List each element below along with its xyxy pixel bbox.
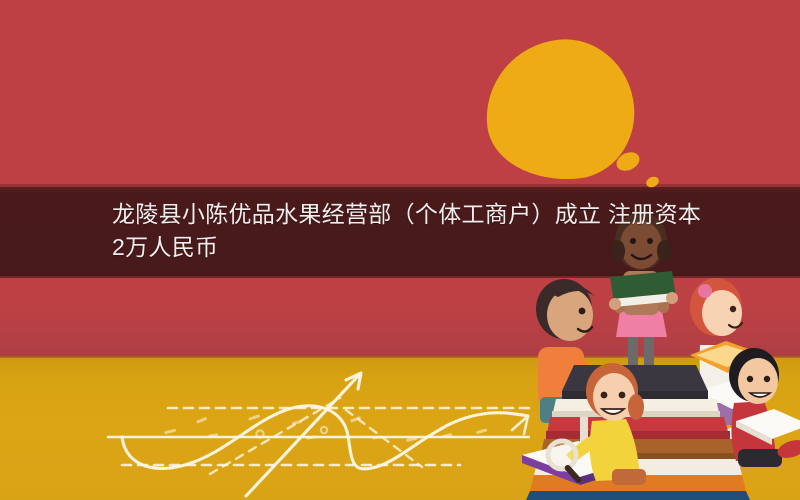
eye-left [747,376,753,382]
background-band-red-top [0,0,800,187]
eye-right [619,392,626,399]
eye-right [764,376,770,382]
child-boy-red-shirt [729,348,800,467]
ponytail [628,394,644,420]
blob-dot-small [644,175,660,190]
magnifying-glass-glass [551,444,573,466]
book-red-edge [546,431,730,439]
banner-image: 龙陵县小陈优品水果经营部（个体工商户）成立 注册资本2万人民币 [0,0,800,500]
eye [579,308,586,315]
pants [612,469,646,485]
pants [738,449,782,467]
hand-left [609,298,621,310]
face [547,289,593,341]
hand-right [666,292,678,304]
eye-left [601,392,608,399]
speech-bubble-blob [470,25,680,195]
eye [730,306,736,312]
hair-bow [698,284,712,298]
math-curve-decoration [100,368,530,500]
banner-headline: 龙陵县小陈优品水果经营部（个体工商户）成立 注册资本2万人民币 [112,198,712,264]
book-blue [526,491,750,500]
